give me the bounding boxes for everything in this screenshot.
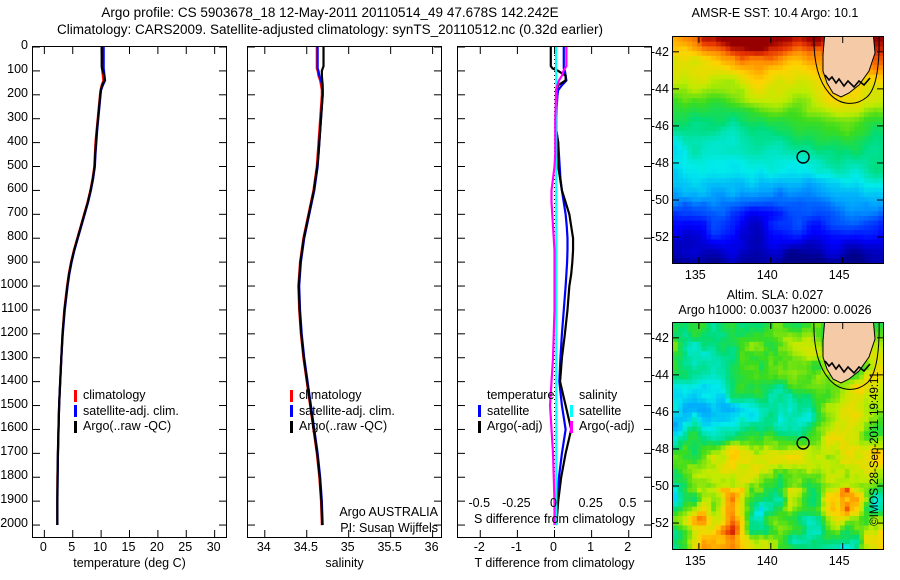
sla-map-title: Altim. SLA: 0.027 Argo h1000: 0.0037 h20… [660,288,890,318]
depth-tick-label: 400 [0,136,28,146]
figure-title: Argo profile: CS 5903678_18 12-May-2011 … [0,4,660,38]
sla-map-image [673,323,883,549]
legend-label-sal-argo: Argo(-adj) [579,419,635,435]
legend-label-temp-satellite: satellite [487,404,529,420]
longitude-tick-label: 140 [757,554,778,568]
legend-label-climatology: climatology [299,388,362,404]
depth-tick-label: 300 [0,112,28,122]
legend-swatch-climatology [290,390,293,402]
legend-item-temp-argo: Argo(-adj) [476,419,554,435]
latitude-tick-label: -50 [643,479,669,493]
depth-tick-label: 1200 [0,327,28,337]
sst-map-image [673,37,883,263]
legend-label-argo-raw: Argo(..raw -QC) [83,419,171,435]
axis-tick-label: 0 [534,540,574,554]
axis-tick-label: 35 [328,540,368,554]
latitude-tick-label: -46 [643,119,669,133]
sst-map-title: AMSR-E SST: 10.4 Argo: 10.1 [660,6,890,21]
legend-label-satellite-adj: satellite-adj. clim. [299,404,395,420]
legend-label-argo-raw: Argo(..raw -QC) [299,419,387,435]
depth-tick-label: 800 [0,231,28,241]
longitude-tick-label: 135 [685,554,706,568]
axis-tick-label: 34.5 [286,540,326,554]
latitude-tick-label: -42 [643,331,669,345]
depth-tick-label: 2000 [0,518,28,528]
legend-swatch-sal-satellite [570,405,573,417]
legend-item-temp-satellite: satellite [476,404,554,420]
latitude-tick-label: -44 [643,82,669,96]
salinity-profile-panel[interactable] [247,46,442,538]
project-name: Argo AUSTRALIA [242,505,438,521]
difference-profile-panel[interactable] [457,46,652,538]
axis-tick-label: 0 [534,496,574,510]
legend-label-climatology: climatology [83,388,146,404]
legend-label-satellite-adj: satellite-adj. clim. [83,404,179,420]
legend-item-sal-argo: Argo(-adj) [568,419,635,435]
difference-legend-salinity: salinity satellite Argo(-adj) [568,388,635,435]
axis-tick-label: -2 [459,540,499,554]
legend-title-salinity: salinity [568,388,635,404]
sla-title-line-2: Argo h1000: 0.0037 h2000: 0.0026 [660,303,890,318]
axis-tick-label: 35.5 [370,540,410,554]
legend-item-sal-satellite: satellite [568,404,635,420]
depth-tick-label: 1100 [0,303,28,313]
title-line-2: Climatology: CARS2009. Satellite-adjuste… [0,21,660,38]
depth-tick-label: 1800 [0,470,28,480]
axis-tick-label: 1 [571,540,611,554]
depth-tick-label: 1600 [0,422,28,432]
difference-profile-plot [458,47,651,537]
temperature-axis-label: temperature (deg C) [32,556,227,570]
legend-item-satellite-adj: satellite-adj. clim. [288,404,395,420]
project-attribution: Argo AUSTRALIA PI: Susan Wijffels [242,505,438,536]
salinity-legend: climatology satellite-adj. clim. Argo(..… [288,388,395,435]
sst-map-panel[interactable] [672,36,884,264]
depth-tick-label: 700 [0,207,28,217]
series-s-difference-argo-adj- [550,47,566,525]
salinity-profile-plot [248,47,441,537]
legend-swatch-temp-argo [478,421,481,433]
depth-tick-label: 100 [0,64,28,74]
axis-tick-label: 0.25 [571,496,611,510]
legend-swatch-argo-raw [290,421,293,433]
axis-tick-label: -0.25 [496,496,536,510]
latitude-tick-label: -48 [643,442,669,456]
legend-item-satellite-adj: satellite-adj. clim. [72,404,179,420]
temperature-profile-panel[interactable] [32,46,227,538]
depth-tick-label: 600 [0,183,28,193]
temperature-legend: climatology satellite-adj. clim. Argo(..… [72,388,179,435]
axis-tick-label: 2 [608,540,648,554]
legend-swatch-sal-argo [570,421,573,433]
legend-item-argo-raw: Argo(..raw -QC) [72,419,179,435]
temperature-profile-plot [33,47,226,537]
temperature-difference-axis-label: T difference from climatology [457,556,652,570]
legend-item-argo-raw: Argo(..raw -QC) [288,419,395,435]
principal-investigator: PI: Susan Wijffels [242,521,438,537]
depth-tick-label: 1300 [0,351,28,361]
legend-label-temp-argo: Argo(-adj) [487,419,543,435]
latitude-tick-label: -48 [643,156,669,170]
depth-tick-label: 200 [0,88,28,98]
legend-item-climatology: climatology [288,388,395,404]
sla-title-line-1: Altim. SLA: 0.027 [660,288,890,303]
depth-tick-label: 1400 [0,375,28,385]
legend-item-climatology: climatology [72,388,179,404]
longitude-tick-label: 145 [829,554,850,568]
depth-tick-label: 900 [0,255,28,265]
latitude-tick-label: -52 [643,516,669,530]
axis-tick-label: 34 [244,540,284,554]
depth-tick-label: 1500 [0,399,28,409]
legend-title-temperature: temperature [476,388,554,404]
latitude-tick-label: -42 [643,45,669,59]
depth-tick-label: 500 [0,160,28,170]
salinity-axis-label: salinity [247,556,442,570]
latitude-tick-label: -46 [643,405,669,419]
latitude-tick-label: -52 [643,230,669,244]
depth-tick-label: 1900 [0,494,28,504]
salinity-difference-axis-label: S difference from climatology [457,512,652,526]
legend-swatch-climatology [74,390,77,402]
depth-tick-label: 1000 [0,279,28,289]
depth-tick-label: 1700 [0,446,28,456]
longitude-tick-label: 135 [685,268,706,282]
depth-tick-label: 0 [0,40,28,50]
axis-tick-label: -1 [496,540,536,554]
legend-swatch-satellite-adj [290,405,293,417]
series-temperature-argo-raw-qc- [57,47,104,525]
title-line-1: Argo profile: CS 5903678_18 12-May-2011 … [0,4,660,21]
series-temperature-climatology [57,47,103,525]
longitude-tick-label: 145 [829,268,850,282]
longitude-tick-label: 140 [757,268,778,282]
legend-label-sal-satellite: satellite [579,404,621,420]
axis-tick-label: 30 [194,540,234,554]
difference-legend-temperature: temperature satellite Argo(-adj) [476,388,554,435]
legend-swatch-temp-satellite [478,405,481,417]
axis-tick-label: -0.5 [459,496,499,510]
legend-swatch-satellite-adj [74,405,77,417]
sla-map-panel[interactable] [672,322,884,550]
copyright-watermark: ©IMOS 28-Sep-2011 19:49:11 [869,372,881,526]
latitude-tick-label: -44 [643,368,669,382]
legend-swatch-argo-raw [74,421,77,433]
axis-tick-label: 0.5 [608,496,648,510]
latitude-tick-label: -50 [643,193,669,207]
axis-tick-label: 36 [412,540,452,554]
